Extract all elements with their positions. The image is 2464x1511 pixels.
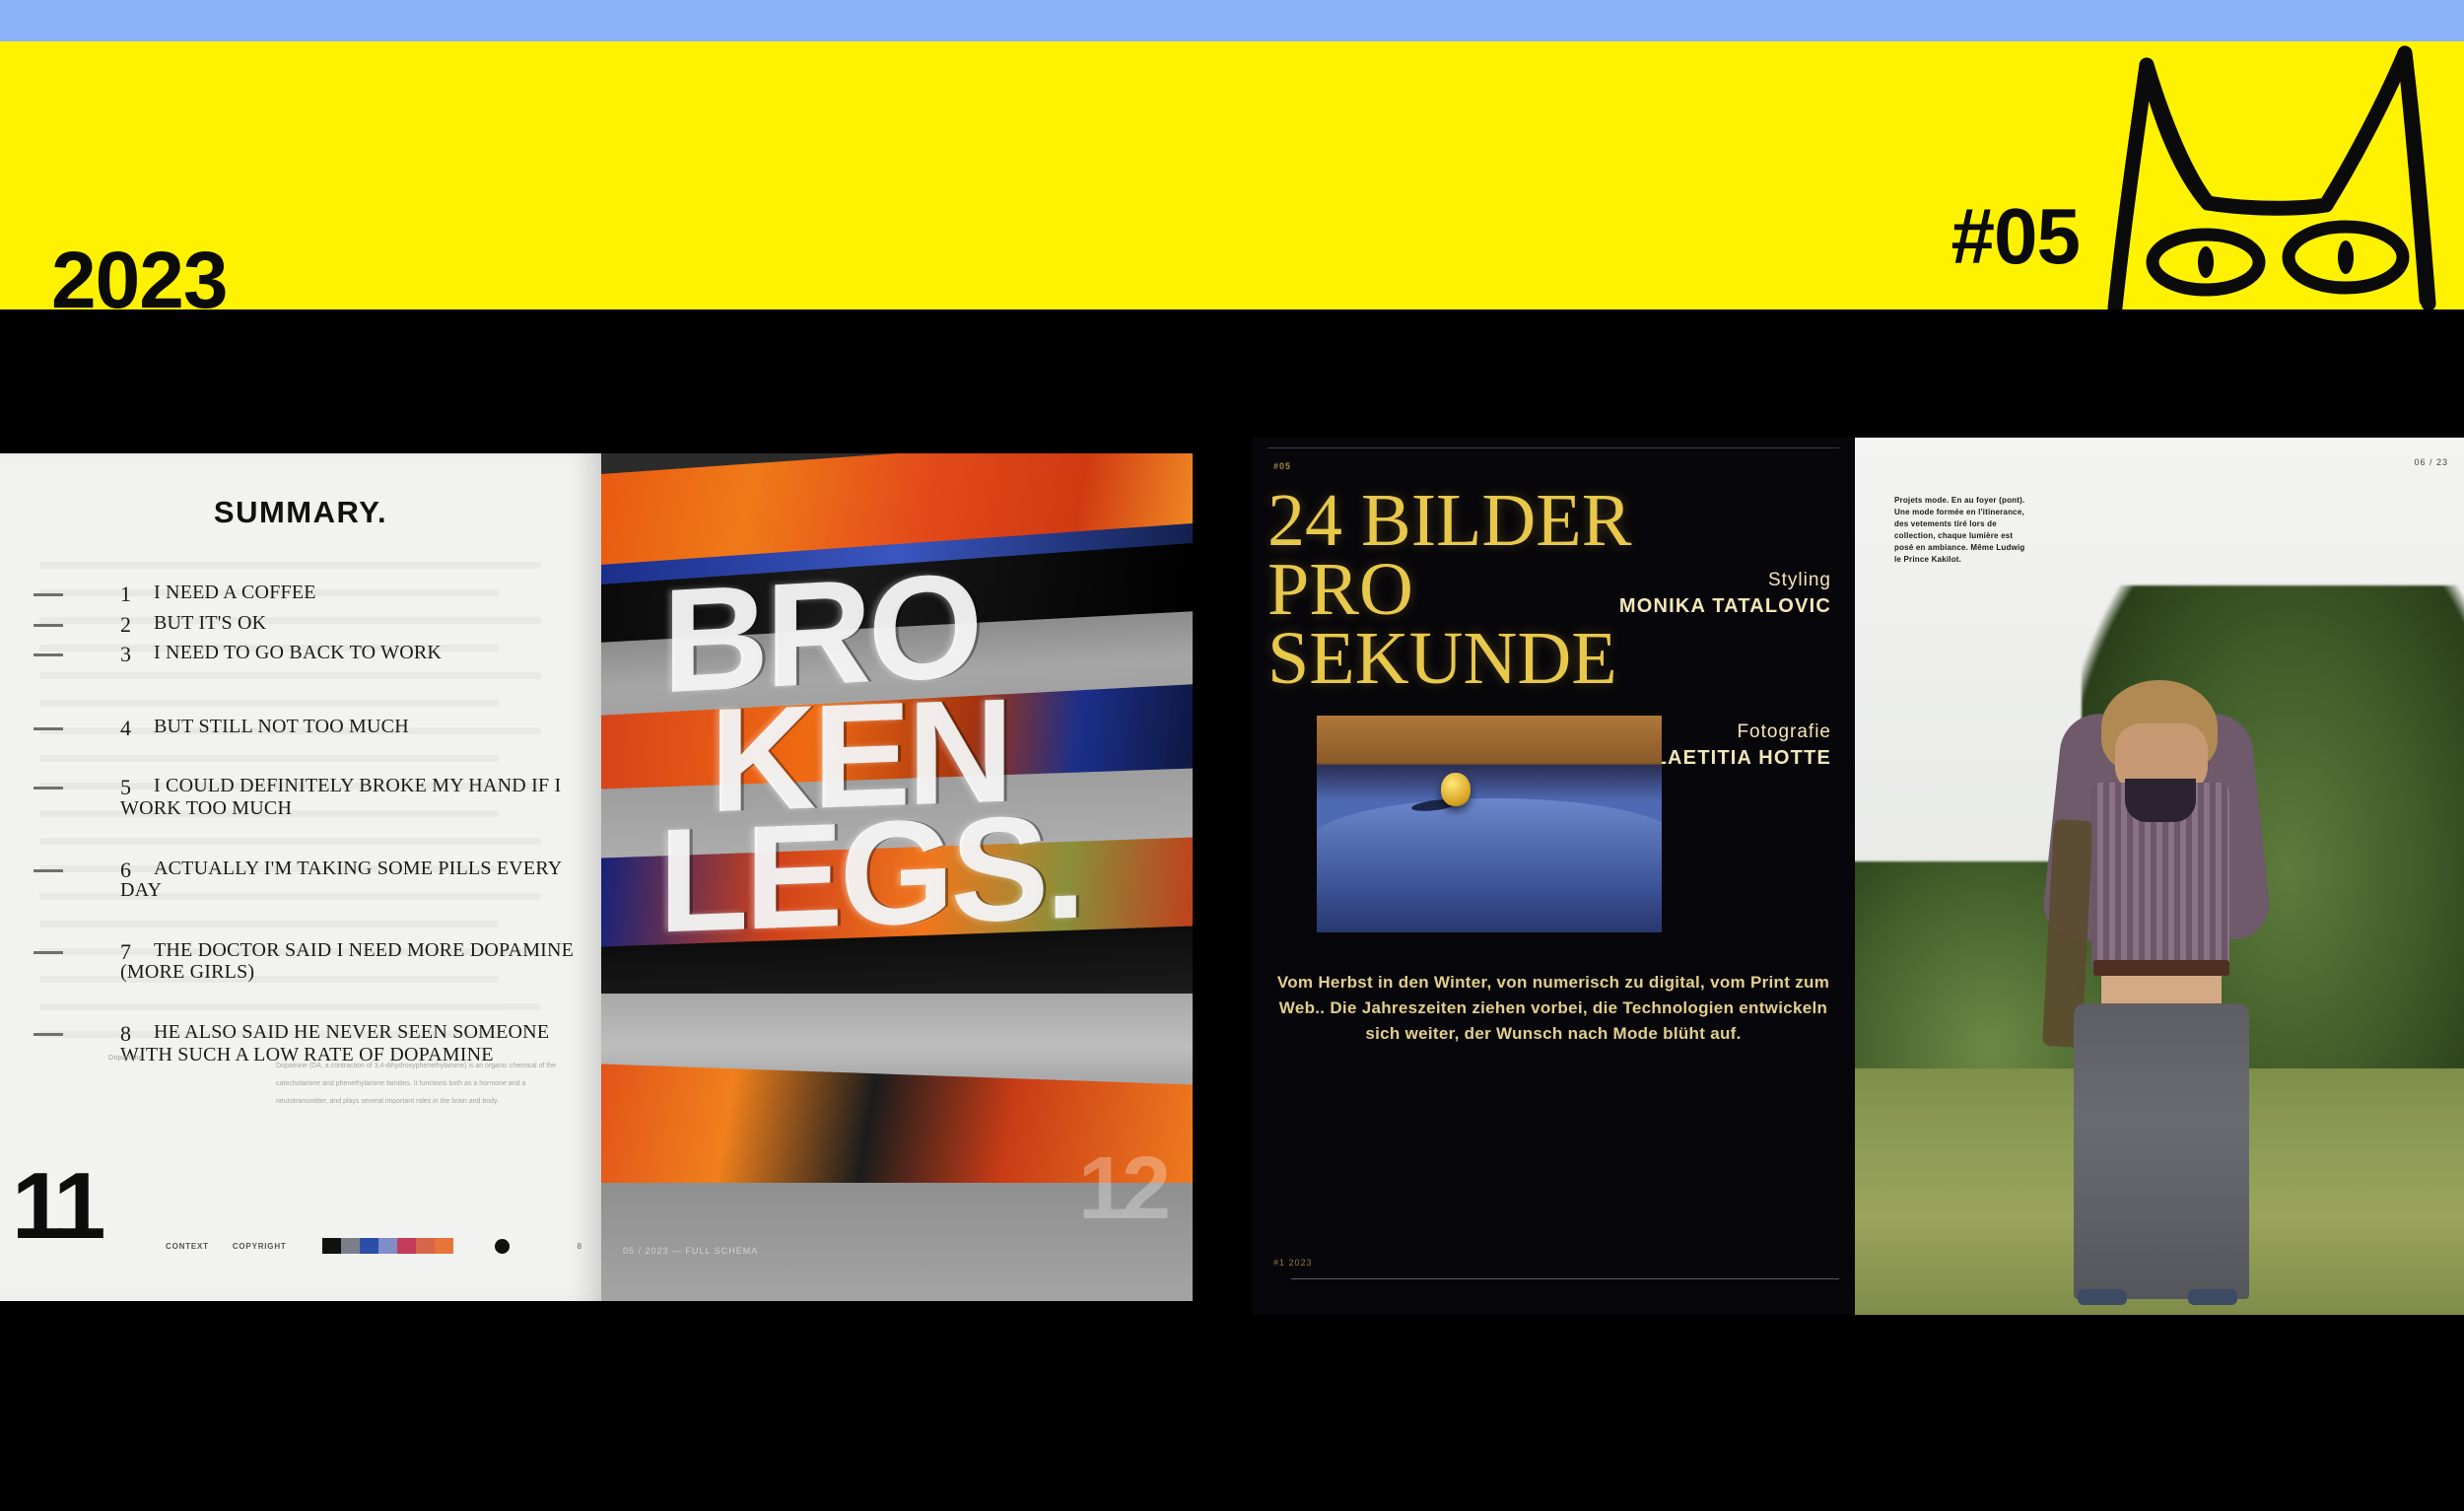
styling-credit-name: MONIKA TATALOVIC (1619, 593, 1831, 620)
footnote-body: Dopamine (DA, a contraction of 3,4-dihyd… (276, 1063, 556, 1105)
brand-title: 2023 ONONDESIGN (51, 83, 593, 309)
model-figure (2030, 672, 2287, 1303)
cat-face-logo-icon (2097, 41, 2464, 309)
spreads-area: SUMMARY. 1 I NEED A COFFEE 2 BUT IT'S OK (0, 309, 2464, 1511)
top-blue-strip (0, 0, 2464, 41)
item-dash-icon (34, 593, 63, 596)
summary-item[interactable]: 7 THE DOCTOR SAID I NEED MORE DOPAMINE (… (34, 939, 582, 984)
bilder-title-line-1: 24 BILDER (1267, 487, 1631, 556)
item-number: 2 (120, 612, 131, 638)
photography-credit-name: LAETITIA HOTTE (1655, 745, 1831, 772)
list-gap (34, 910, 582, 939)
item-dash-icon (34, 653, 63, 656)
photography-role-label: Fotografie (1655, 720, 1831, 745)
list-gap (34, 672, 582, 716)
item-number: 7 (120, 939, 131, 965)
broken-legs-page: BRO KEN LEGS. 12 05 / 2023 — FULL SCHEMA (601, 453, 1193, 1301)
summary-title: SUMMARY. (0, 495, 601, 530)
photography-credit: Fotografie LAETITIA HOTTE (1655, 720, 1831, 772)
item-number: 1 (120, 582, 131, 607)
item-text: BUT STILL NOT TOO MUCH (34, 716, 582, 738)
item-text: I NEED TO GO BACK TO WORK (34, 642, 582, 664)
list-gap (34, 745, 582, 775)
blue-table-shape (1317, 798, 1662, 932)
summary-item[interactable]: 2 BUT IT'S OK (34, 612, 582, 635)
item-number: 5 (120, 775, 131, 800)
magazine-spread-1[interactable]: SUMMARY. 1 I NEED A COFFEE 2 BUT IT'S OK (0, 453, 1193, 1301)
summary-footer: CONTEXT COPYRIGHT 8 (166, 1238, 582, 1254)
item-text: ACTUALLY I'M TAKING SOME PILLS EVERY DAY (34, 858, 582, 902)
color-swatch-bar (322, 1238, 453, 1254)
header-banner: 2023 ONONDESIGN #05 (0, 41, 2464, 309)
photo-page-folio: 06 / 23 (2414, 457, 2448, 467)
item-number: 6 (120, 858, 131, 883)
summary-item[interactable]: 3 I NEED TO GO BACK TO WORK (34, 642, 582, 664)
item-text: I COULD DEFINITELY BROKE MY HAND IF I WO… (34, 775, 582, 819)
item-dash-icon (34, 787, 63, 790)
item-number: 8 (120, 1021, 131, 1047)
bilder-title-line-2: PRO (1267, 556, 1631, 625)
broken-page-credit: 05 / 2023 — FULL SCHEMA (623, 1246, 758, 1256)
lemon-shape (1441, 773, 1471, 806)
item-dash-icon (34, 624, 63, 627)
footnote-label: Dopamine (108, 1055, 143, 1062)
model-collar (2125, 779, 2196, 822)
registration-dot-icon (495, 1239, 510, 1254)
styling-credit: Styling MONIKA TATALOVIC (1619, 568, 1831, 620)
bilder-title: 24 BILDER PRO SEKUNDE (1267, 487, 1631, 694)
item-dash-icon (34, 1033, 63, 1036)
summary-list: 1 I NEED A COFFEE 2 BUT IT'S OK 3 I NEED… (34, 582, 582, 1073)
list-gap (34, 992, 582, 1021)
bilder-bottom-rule (1291, 1278, 1839, 1279)
summary-item[interactable]: 1 I NEED A COFFEE (34, 582, 582, 604)
broken-page-number: 12 (1078, 1138, 1165, 1240)
item-dash-icon (34, 869, 63, 872)
summary-item[interactable]: 6 ACTUALLY I'M TAKING SOME PILLS EVERY D… (34, 858, 582, 902)
summary-item[interactable]: 5 I COULD DEFINITELY BROKE MY HAND IF I … (34, 775, 582, 819)
footer-folio: 8 (578, 1242, 582, 1251)
item-number: 3 (120, 642, 131, 667)
fashion-photo-page: Projets mode. En au foyer (pont). Une mo… (1855, 438, 2464, 1315)
issue-number: #05 (1951, 191, 2080, 282)
photo-caption: Projets mode. En au foyer (pont). Une mo… (1894, 495, 2032, 566)
summary-item[interactable]: 4 BUT STILL NOT TOO MUCH (34, 716, 582, 738)
table-lemon-photo (1317, 716, 1662, 932)
model-shoe-right (2188, 1289, 2237, 1305)
screenshot-root: 2023 ONONDESIGN #05 SUM (0, 0, 2464, 1511)
bilder-top-rule (1267, 447, 1839, 448)
model-belt (2093, 960, 2229, 976)
page-number: 11 11 (12, 1159, 100, 1254)
page-number-value: 11 (12, 1153, 100, 1259)
item-text: THE DOCTOR SAID I NEED MORE DOPAMINE (MO… (34, 939, 582, 984)
list-gap (34, 828, 582, 858)
item-text: BUT IT'S OK (34, 612, 582, 635)
footer-copyright-label: COPYRIGHT (233, 1242, 287, 1251)
footer-context-label: CONTEXT (166, 1242, 209, 1251)
banner-year: 2023 (51, 241, 593, 309)
footnote: Dopamine Dopamine (DA, a contraction of … (276, 1055, 572, 1108)
item-dash-icon (34, 727, 63, 730)
bilder-body-text: Vom Herbst in den Winter, von numerisch … (1269, 970, 1837, 1046)
bilder-footer-folio: #1 2023 (1273, 1258, 1313, 1268)
item-number: 4 (120, 716, 131, 741)
bilder-title-line-3: SEKUNDE (1267, 625, 1631, 694)
magazine-spread-2[interactable]: #05 24 BILDER PRO SEKUNDE Styling MONIKA… (1252, 438, 2464, 1315)
styling-role-label: Styling (1619, 568, 1831, 593)
model-shoe-left (2078, 1289, 2127, 1305)
item-text: I NEED A COFFEE (34, 582, 582, 604)
bilder-page: #05 24 BILDER PRO SEKUNDE Styling MONIKA… (1252, 438, 1855, 1315)
broken-word-3: LEGS. (658, 781, 1082, 966)
summary-page: SUMMARY. 1 I NEED A COFFEE 2 BUT IT'S OK (0, 453, 601, 1301)
item-dash-icon (34, 951, 63, 954)
bilder-issue-marker: #05 (1273, 461, 1291, 471)
model-trousers (2074, 1003, 2249, 1299)
